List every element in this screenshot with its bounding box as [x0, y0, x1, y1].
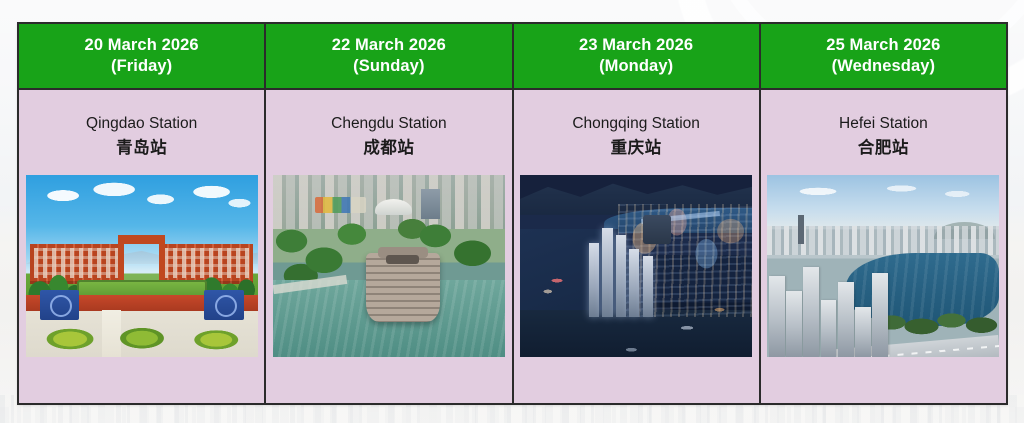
highrise — [786, 291, 802, 356]
station-name-cn: 青岛站 — [86, 137, 197, 159]
date-header-chengdu: 22 March 2026 (Sunday) — [266, 24, 511, 90]
weekday-text: (Friday) — [111, 56, 172, 77]
station-name-en: Chengdu Station — [331, 114, 446, 135]
date-text: 22 March 2026 — [332, 35, 446, 56]
schedule-column-hefei: 25 March 2026 (Wednesday) Hefei Station … — [761, 24, 1006, 403]
schedule-cell-hefei: Hefei Station 合肥站 — [761, 90, 1006, 403]
roadshow-schedule-table: 20 March 2026 (Friday) Qingdao Station 青… — [17, 22, 1008, 405]
weekday-text: (Wednesday) — [832, 56, 935, 77]
schedule-cell-qingdao: Qingdao Station 青岛站 — [19, 90, 264, 403]
schedule-column-chongqing: 23 March 2026 (Monday) Chongqing Station… — [514, 24, 761, 403]
weekday-text: (Sunday) — [353, 56, 424, 77]
highrise — [838, 282, 854, 356]
highrise — [821, 300, 837, 356]
schedule-column-chengdu: 22 March 2026 (Sunday) Chengdu Station 成… — [266, 24, 513, 403]
station-name-cn: 成都站 — [331, 137, 446, 159]
date-text: 20 March 2026 — [85, 35, 199, 56]
main-library-building — [366, 253, 440, 322]
station-name-cn: 合肥站 — [839, 137, 928, 159]
station-name-en: Hefei Station — [839, 114, 928, 135]
hefei-skyline-photo — [767, 175, 999, 357]
river-boats — [520, 175, 752, 357]
station-name-en: Qingdao Station — [86, 114, 197, 135]
highrise — [803, 267, 819, 357]
schedule-column-qingdao: 20 March 2026 (Friday) Qingdao Station 青… — [19, 24, 266, 403]
date-header-hefei: 25 March 2026 (Wednesday) — [761, 24, 1006, 90]
sports-field — [315, 197, 366, 213]
station-names-chongqing: Chongqing Station 重庆站 — [572, 114, 700, 159]
date-header-qingdao: 20 March 2026 (Friday) — [19, 24, 264, 90]
station-name-en: Chongqing Station — [572, 114, 700, 135]
chengdu-campus-photo — [273, 175, 505, 357]
date-header-chongqing: 23 March 2026 (Monday) — [514, 24, 759, 90]
antenna-spire — [798, 215, 805, 244]
station-names-chengdu: Chengdu Station 成都站 — [331, 114, 446, 159]
topiary-emblems — [26, 315, 258, 355]
weekday-text: (Monday) — [599, 56, 673, 77]
schedule-cell-chongqing: Chongqing Station 重庆站 — [514, 90, 759, 403]
highrise — [769, 276, 785, 357]
highrise — [872, 273, 888, 356]
date-text: 23 March 2026 — [579, 35, 693, 56]
schedule-cell-chengdu: Chengdu Station 成都站 — [266, 90, 511, 403]
chongqing-skyline-photo — [520, 175, 752, 357]
highrise — [855, 307, 871, 357]
station-names-qingdao: Qingdao Station 青岛站 — [86, 114, 197, 159]
station-name-cn: 重庆站 — [572, 137, 700, 159]
qingdao-campus-photo — [26, 175, 258, 357]
date-text: 25 March 2026 — [826, 35, 940, 56]
highrise-cluster — [767, 244, 911, 357]
station-names-hefei: Hefei Station 合肥站 — [839, 114, 928, 159]
